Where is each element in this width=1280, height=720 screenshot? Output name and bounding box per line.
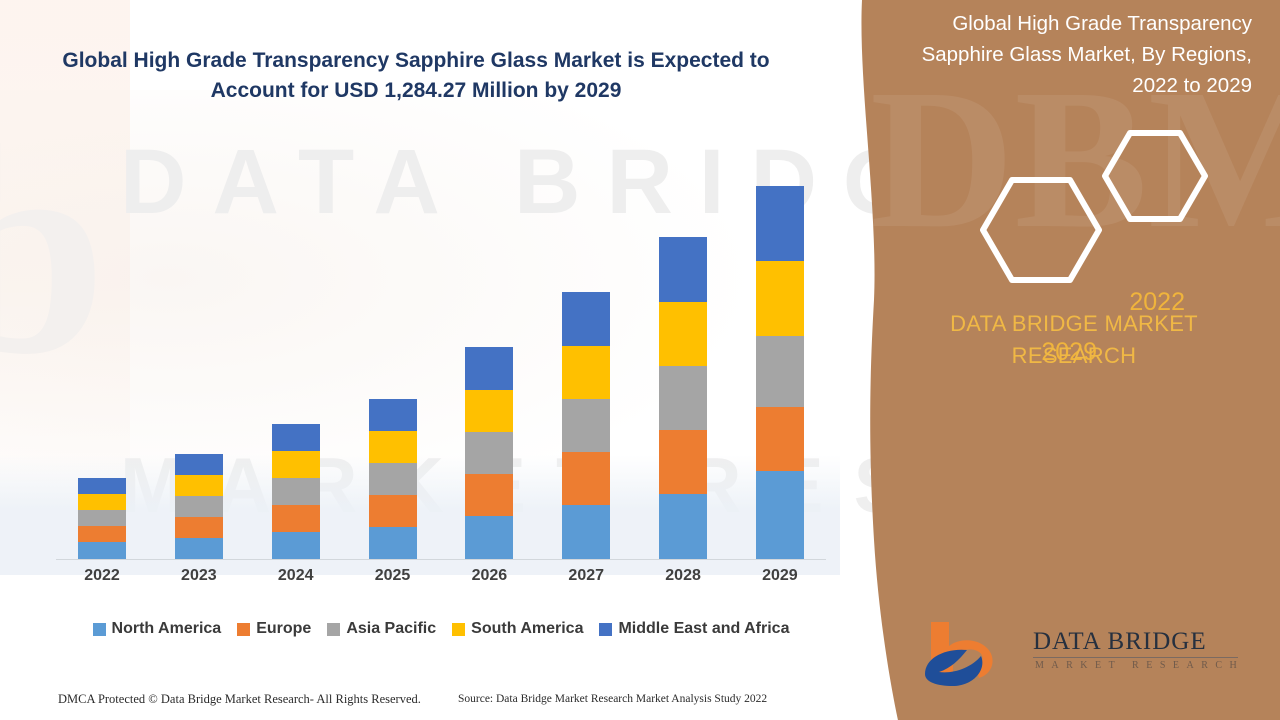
legend-item[interactable]: Middle East and Africa [599, 620, 789, 638]
bar-segment [756, 336, 804, 407]
bar-column [659, 237, 707, 559]
bar-segment [756, 261, 804, 336]
x-axis-tick: 2025 [357, 567, 429, 593]
legend-label: South America [471, 620, 583, 638]
bar-segment [272, 532, 320, 559]
bar-segment [175, 496, 223, 517]
panel-brand: DATA BRIDGE MARKET RESEARCH [904, 308, 1244, 372]
bar-column [465, 347, 513, 559]
hexagon-badges: 2022 2029 [840, 120, 1280, 300]
x-axis-tick: 2029 [744, 567, 816, 593]
bar-segment [465, 516, 513, 559]
x-axis-tick: 2027 [550, 567, 622, 593]
bar-segment [562, 505, 610, 559]
hexagon-2029-shape [983, 180, 1099, 280]
bar-segment [369, 431, 417, 463]
bar-column [756, 186, 804, 559]
company-logo: DATA BRIDGE MARKET RESEARCH [915, 616, 1245, 692]
bar-segment [369, 399, 417, 431]
chart-title: Global High Grade Transparency Sapphire … [56, 46, 776, 106]
bar-column [562, 292, 610, 559]
bar-segment [465, 432, 513, 474]
x-axis-tick: 2028 [647, 567, 719, 593]
bar-segment [465, 347, 513, 390]
bar-segment [175, 517, 223, 538]
infographic-root: b DATA BRIDGE MARKET RESEARCH Global Hig… [0, 0, 1280, 720]
bar-segment [272, 505, 320, 532]
footer-source: Source: Data Bridge Market Research Mark… [458, 693, 767, 705]
legend-item[interactable]: North America [93, 620, 222, 638]
bar-segment [659, 302, 707, 366]
bar-segment [272, 451, 320, 478]
panel-heading: Global High Grade Transparency Sapphire … [896, 8, 1252, 101]
logo-divider [1033, 657, 1238, 658]
bar-column [175, 454, 223, 559]
panel-brand-line1: DATA BRIDGE MARKET [904, 308, 1244, 340]
bar-segment [78, 478, 126, 494]
bar-segment [369, 527, 417, 559]
bar-segment [175, 538, 223, 559]
x-axis-tick: 2024 [260, 567, 332, 593]
logo-tagline: MARKET RESEARCH [1035, 660, 1244, 671]
bar-column [272, 424, 320, 559]
bar-segment [272, 424, 320, 451]
legend-swatch-icon [327, 623, 340, 636]
bar-segment [562, 346, 610, 399]
bar-segment [465, 390, 513, 432]
logo-mark-icon [915, 616, 1025, 692]
legend-item[interactable]: South America [452, 620, 583, 638]
bar-segment [369, 495, 417, 527]
hexagon-outlines [840, 120, 1280, 300]
legend-label: Middle East and Africa [618, 620, 789, 638]
x-axis-line [56, 559, 826, 560]
bar-segment [369, 463, 417, 495]
chart-plot-area [56, 170, 826, 560]
bar-segment [78, 510, 126, 526]
legend-swatch-icon [452, 623, 465, 636]
chart-legend: North AmericaEuropeAsia PacificSouth Ame… [56, 616, 826, 642]
legend-label: North America [112, 620, 222, 638]
legend-item[interactable]: Asia Pacific [327, 620, 436, 638]
bar-segment [78, 494, 126, 510]
bar-segment [756, 186, 804, 261]
bar-segment [756, 471, 804, 559]
legend-swatch-icon [237, 623, 250, 636]
x-axis-tick: 2023 [163, 567, 235, 593]
legend-swatch-icon [93, 623, 106, 636]
footer-copyright: DMCA Protected © Data Bridge Market Rese… [58, 692, 421, 707]
legend-label: Europe [256, 620, 311, 638]
bar-segment [659, 430, 707, 494]
footer: DMCA Protected © Data Bridge Market Rese… [0, 684, 845, 720]
legend-item[interactable]: Europe [237, 620, 311, 638]
bar-segment [175, 475, 223, 496]
bar-segment [659, 494, 707, 559]
bar-segment [175, 454, 223, 475]
logo-name: DATA BRIDGE [1033, 628, 1207, 656]
panel-brand-line2: RESEARCH [904, 340, 1244, 372]
right-panel: DBMR Global High Grade Transparency Sapp… [840, 0, 1280, 720]
bar-column [78, 478, 126, 559]
x-axis-tick: 2022 [66, 567, 138, 593]
x-axis-tick: 2026 [453, 567, 525, 593]
bar-segment [659, 366, 707, 430]
bar-segment [562, 292, 610, 346]
bar-segment [272, 478, 320, 505]
bar-segment [659, 237, 707, 302]
bar-segment [78, 542, 126, 559]
bar-segment [78, 526, 126, 542]
bar-segment [756, 407, 804, 471]
bar-segment [465, 474, 513, 516]
hexagon-2022-shape [1105, 133, 1205, 219]
bar-column [369, 399, 417, 559]
legend-swatch-icon [599, 623, 612, 636]
bar-segment [562, 399, 610, 452]
legend-label: Asia Pacific [346, 620, 436, 638]
bar-segment [562, 452, 610, 505]
stacked-bars [56, 170, 826, 559]
x-axis-labels: 20222023202420252026202720282029 [56, 567, 826, 593]
